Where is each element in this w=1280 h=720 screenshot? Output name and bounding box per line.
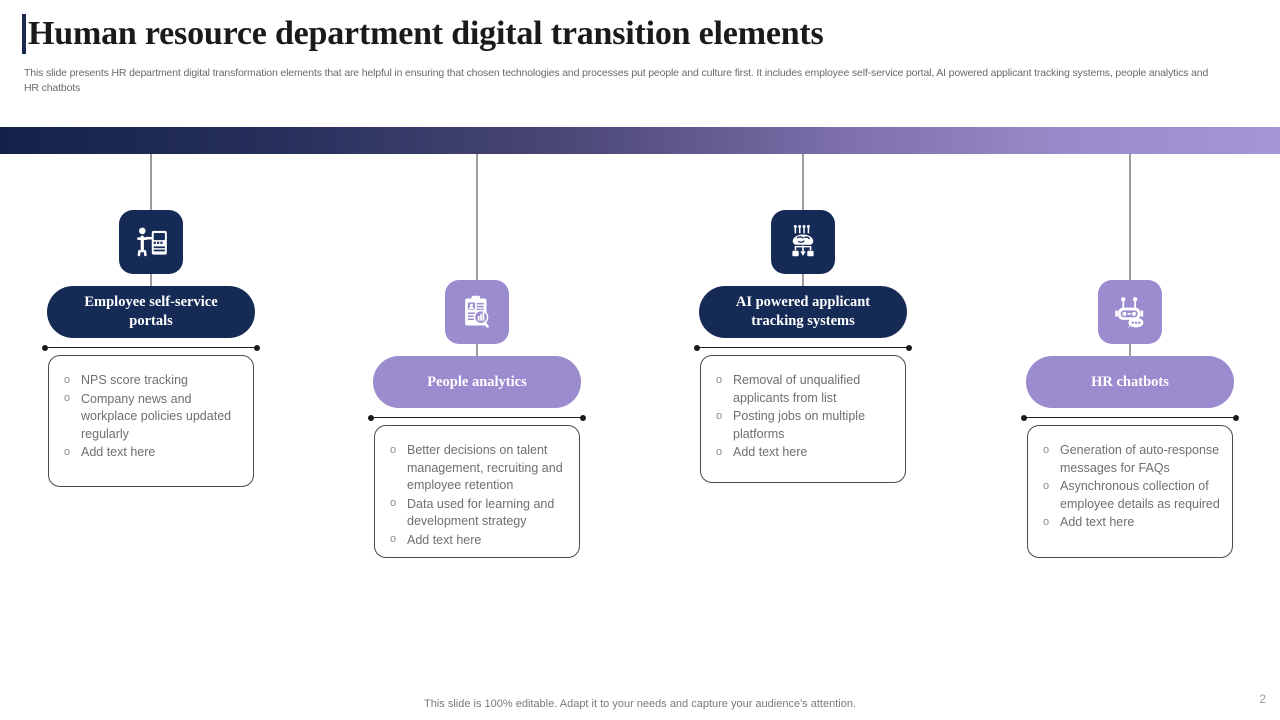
page-number: 2	[1259, 692, 1266, 706]
list-item: Add text here	[59, 444, 243, 462]
footer-note: This slide is 100% editable. Adapt it to…	[0, 698, 1280, 710]
list-item: Add text here	[1038, 514, 1222, 532]
divider-rule	[697, 347, 909, 348]
connector-stem	[151, 154, 152, 210]
divider-rule	[371, 417, 583, 418]
bullet-box: Generation of auto-response messages for…	[1027, 425, 1233, 558]
column-title-text: People analytics	[427, 373, 526, 392]
bullet-list: NPS score tracking Company news and work…	[59, 372, 243, 462]
connector-stem	[1130, 154, 1131, 280]
column-title-pill[interactable]: People analytics	[373, 356, 581, 408]
bullet-list: Generation of auto-response messages for…	[1038, 442, 1222, 532]
slide: Human resource department digital transi…	[0, 0, 1280, 720]
page-title: Human resource department digital transi…	[28, 14, 824, 54]
divider-rule	[1024, 417, 1236, 418]
column-title-text: AI powered applicant tracking systems	[713, 293, 893, 331]
person-kiosk-icon	[119, 210, 183, 274]
list-item: NPS score tracking	[59, 372, 243, 390]
list-item: Removal of unqualified applicants from l…	[711, 372, 895, 407]
divider-rule	[45, 347, 257, 348]
list-item: Posting jobs on multiple platforms	[711, 408, 895, 443]
chatbot-robot-icon	[1098, 280, 1162, 344]
bullet-box: Removal of unqualified applicants from l…	[700, 355, 906, 483]
clipboard-chart-search-icon	[445, 280, 509, 344]
list-item: Add text here	[385, 532, 569, 550]
list-item: Asynchronous collection of employee deta…	[1038, 478, 1222, 513]
column-title-pill[interactable]: AI powered applicant tracking systems	[699, 286, 907, 338]
bullet-list: Better decisions on talent management, r…	[385, 442, 569, 549]
gradient-band	[0, 127, 1280, 154]
bullet-box: Better decisions on talent management, r…	[374, 425, 580, 558]
list-item: Company news and workplace policies upda…	[59, 391, 243, 444]
title-accent-bar	[22, 14, 26, 54]
slide-subtitle: This slide presents HR department digita…	[24, 66, 1224, 96]
column-title-pill[interactable]: Employee self-service portals	[47, 286, 255, 338]
list-item: Add text here	[711, 444, 895, 462]
connector-stem	[803, 154, 804, 210]
bullet-list: Removal of unqualified applicants from l…	[711, 372, 895, 462]
column-title-text: Employee self-service portals	[61, 293, 241, 331]
column-title-pill[interactable]: HR chatbots	[1026, 356, 1234, 408]
column-title-text: HR chatbots	[1091, 373, 1169, 392]
list-item: Data used for learning and development s…	[385, 496, 569, 531]
list-item: Better decisions on talent management, r…	[385, 442, 569, 495]
bullet-box: NPS score tracking Company news and work…	[48, 355, 254, 487]
list-item: Generation of auto-response messages for…	[1038, 442, 1222, 477]
connector-stem	[477, 154, 478, 280]
ai-brain-network-icon	[771, 210, 835, 274]
